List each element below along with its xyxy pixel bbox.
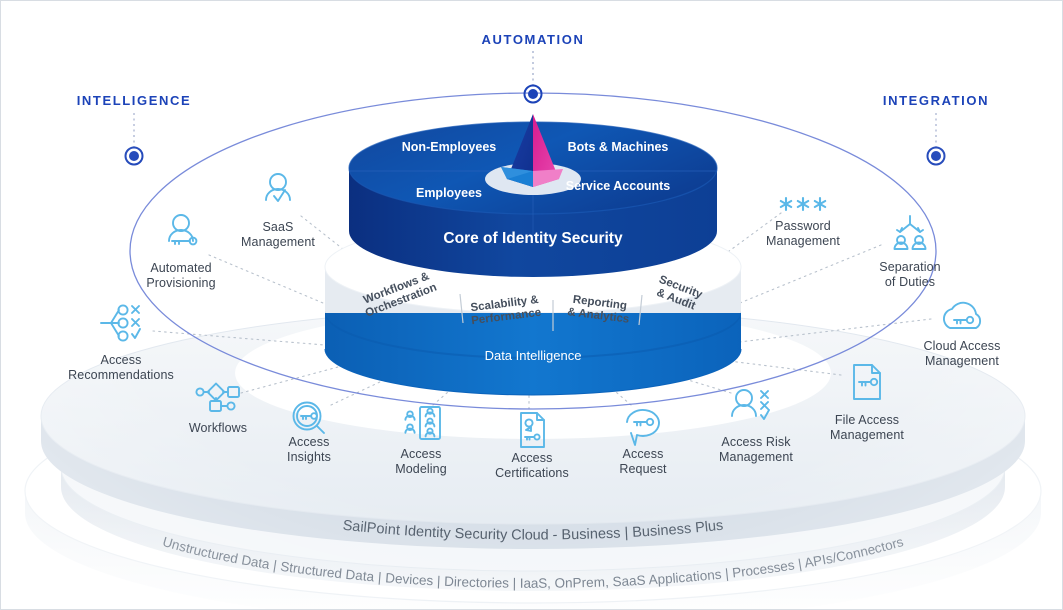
core-segment-service-accounts: Service Accounts (558, 179, 678, 193)
capability-label-line-1: Cloud Access (877, 339, 1047, 354)
capability-label-line-2: of Duties (825, 275, 995, 290)
orbit-label-intelligence: INTELLIGENCE (54, 93, 214, 108)
core-segment-label: Employees (416, 186, 482, 200)
capability-label-access-recommendations: AccessRecommendations (36, 353, 206, 383)
capability-label-cloud-access-management: Cloud AccessManagement (877, 339, 1047, 369)
capability-label-line-1: Password (718, 219, 888, 234)
core-segment-non-employees: Non-Employees (389, 140, 509, 154)
capability-label-separation-of-duties: Separationof Duties (825, 260, 995, 290)
capability-label-password-management: PasswordManagement (718, 219, 888, 249)
capability-label-line-1: Workflows (133, 421, 303, 436)
capability-label-line-2: Management (718, 234, 888, 249)
capability-label-file-access-management: File AccessManagement (782, 413, 952, 443)
capability-label-line-1: Separation (825, 260, 995, 275)
core-segment-employees: Employees (389, 186, 509, 200)
capability-label-line-1: File Access (782, 413, 952, 428)
core-segment-label: Non-Employees (402, 140, 496, 154)
capability-label-workflows: Workflows (133, 421, 303, 436)
capability-label-line-2: Provisioning (96, 276, 266, 291)
capability-label-saas-management: SaaSManagement (193, 220, 363, 250)
core-segment-label: Service Accounts (566, 179, 670, 193)
data-intelligence-label: Data Intelligence (448, 349, 618, 364)
orbit-label-automation: AUTOMATION (453, 32, 613, 47)
core-segment-label: Bots & Machines (568, 140, 669, 154)
capability-label-line-2: Recommendations (36, 368, 206, 383)
capability-label-line-2: Management (671, 450, 841, 465)
capability-label-line-2: Management (193, 235, 363, 250)
capability-label-line-1: Access (36, 353, 206, 368)
identity-security-diagram: SailPoint Identity Security Cloud - Busi… (0, 0, 1063, 610)
core-segment-bots-machines: Bots & Machines (558, 140, 678, 154)
capability-label-line-2: Management (877, 354, 1047, 369)
capability-label-line-1: SaaS (193, 220, 363, 235)
core-title: Core of Identity Security (413, 230, 653, 248)
capability-label-line-2: Management (782, 428, 952, 443)
orbit-label-integration: INTEGRATION (856, 93, 1016, 108)
capability-label-line-1: Automated (96, 261, 266, 276)
capability-label-automated-provisioning: AutomatedProvisioning (96, 261, 266, 291)
